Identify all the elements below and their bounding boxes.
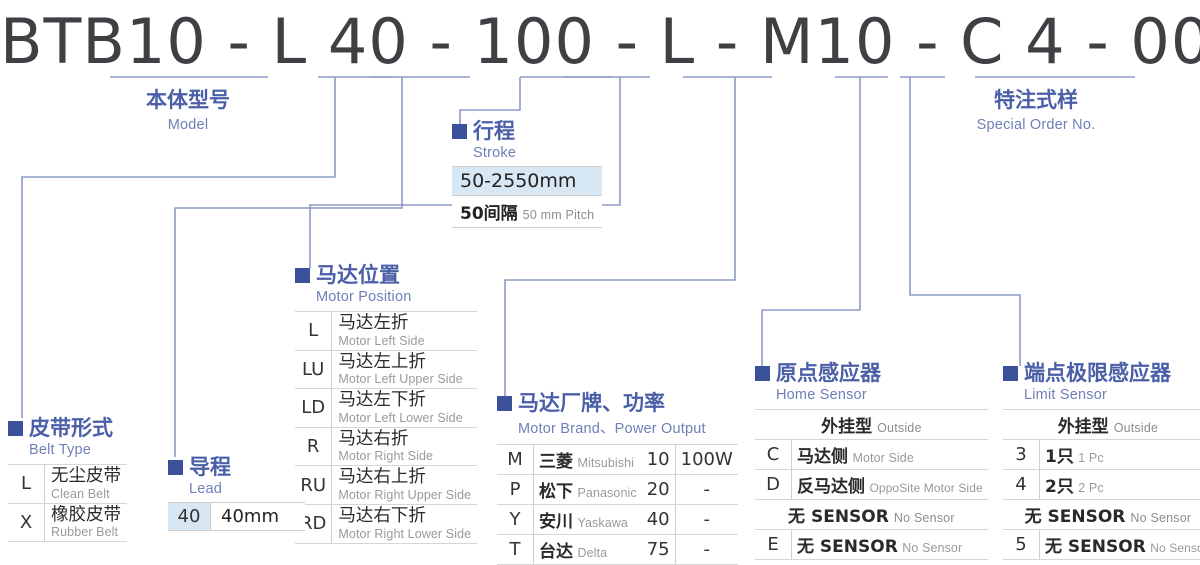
stroke-table: 50-2550mm 50间隔50 mm Pitch xyxy=(452,166,602,228)
table-row[interactable]: 4 2只 2 Pc xyxy=(1003,470,1200,500)
row-value-en: Clean Belt xyxy=(51,487,121,501)
row-value-cn: 无尘皮带 xyxy=(51,467,121,487)
table-row[interactable]: M 三菱 Mitsubishi 10 100W xyxy=(497,445,738,475)
row-key: 40 xyxy=(168,503,211,531)
table-row[interactable]: 50-2550mm xyxy=(452,167,602,196)
row-value: 马达左折 Motor Left Side xyxy=(332,312,477,351)
row-value: 无尘皮带 Clean Belt xyxy=(45,465,128,504)
band-en: Outside xyxy=(1114,421,1158,435)
row-value-cn: 1只 xyxy=(1045,447,1074,467)
row-value-cn: 马达右折 xyxy=(338,430,471,450)
row-value: 马达右下折 Motor Right Lower Side xyxy=(332,504,477,543)
band-en: No Sensor xyxy=(1130,511,1191,525)
row-value-en: Motor Right Lower Side xyxy=(338,527,471,541)
group-motor-position-label-cn: 马达位置 xyxy=(316,265,400,286)
diagram-canvas: BTB10 - L 40 - 100 - L - M10 - C 4 - 000… xyxy=(0,0,1200,551)
row-value-cn: 马达右下折 xyxy=(338,507,471,527)
group-special-order-label-cn: 特注式样 xyxy=(940,84,1132,114)
row-power-value: 100W xyxy=(675,445,738,475)
row-brand-en: Yaskawa xyxy=(577,516,628,530)
row-value: 马达左下折 Motor Left Lower Side xyxy=(332,389,477,428)
bullet-square-icon xyxy=(168,460,183,475)
row-value-cn: 马达左折 xyxy=(338,314,471,334)
section-band-no-sensor: 无 SENSORNo Sensor xyxy=(755,500,988,530)
bullet-square-icon xyxy=(8,421,23,436)
row-value: 无 SENSOR No Sensor xyxy=(792,530,988,560)
table-row[interactable]: Y 安川 Yaskawa 40 - xyxy=(497,505,738,535)
row-value-cn: 无 SENSOR xyxy=(1045,537,1146,557)
group-lead-label-en: Lead xyxy=(189,481,305,497)
group-motor-brand-label-en: Motor Brand、Power Output xyxy=(518,417,738,438)
group-home-sensor-label-en: Home Sensor xyxy=(776,387,988,403)
group-motor-position: 马达位置 Motor Position L 马达左折 Motor Left Si… xyxy=(295,265,477,544)
band-cn: 无 SENSOR xyxy=(1025,507,1126,527)
row-value-cn: 马达左下折 xyxy=(338,391,471,411)
section-band-outside: 外挂型Outside xyxy=(755,410,988,440)
group-model-label-en: Model xyxy=(103,117,273,133)
bullet-square-icon xyxy=(497,396,512,411)
row-value-en: Motor Left Side xyxy=(338,334,471,348)
row-value-cn: 无 SENSOR xyxy=(797,537,898,557)
row-key: 3 xyxy=(1003,440,1040,470)
table-row[interactable]: P 松下 Panasonic 20 - xyxy=(497,475,738,505)
row-value-en: Motor Side xyxy=(852,451,913,465)
stroke-pitch: 50间隔50 mm Pitch xyxy=(452,196,602,228)
row-value-cn: 马达侧 xyxy=(797,447,848,467)
group-stroke: 行程 Stroke 50-2550mm 50间隔50 mm Pitch xyxy=(452,121,602,228)
group-model: 本体型号 Model xyxy=(103,84,273,133)
row-key: LU xyxy=(295,350,332,389)
group-model-label-cn: 本体型号 xyxy=(103,84,273,114)
table-row[interactable]: RU 马达右上折 Motor Right Upper Side xyxy=(295,466,477,505)
group-belt-type-label-cn: 皮带形式 xyxy=(29,418,113,439)
band-cn: 外挂型 xyxy=(1058,417,1109,437)
table-row[interactable]: LU 马达左上折 Motor Left Upper Side xyxy=(295,350,477,389)
table-row[interactable]: 5 无 SENSOR No Sensor xyxy=(1003,530,1200,560)
group-stroke-label-en: Stroke xyxy=(473,145,602,161)
group-motor-brand: 马达厂牌、功率 Motor Brand、Power Output M 三菱 Mi… xyxy=(497,393,738,565)
row-value: 40mm xyxy=(211,503,305,531)
row-brand-cn: 松下 xyxy=(539,482,573,502)
row-value-cn: 马达左上折 xyxy=(338,353,471,373)
group-special-order: 特注式样 Special Order No. xyxy=(940,84,1132,133)
row-key: L xyxy=(295,312,332,351)
row-key: 5 xyxy=(1003,530,1040,560)
table-row[interactable]: T 台达 Delta 75 - xyxy=(497,535,738,565)
row-key: Y xyxy=(497,505,534,535)
row-value-en: 1 Pc xyxy=(1078,451,1103,465)
row-value-cn: 反马达侧 xyxy=(797,477,865,497)
row-value: 反马达侧 OppoSite Motor Side xyxy=(792,470,988,500)
row-value: 马达左上折 Motor Left Upper Side xyxy=(332,350,477,389)
table-row[interactable]: C 马达侧 Motor Side xyxy=(755,440,988,470)
group-limit-sensor: 端点极限感应器 Limit Sensor 外挂型Outside 3 1只 1 P… xyxy=(1003,363,1200,560)
row-key: X xyxy=(8,503,45,542)
row-power-value: - xyxy=(675,535,738,565)
row-brand-en: Mitsubishi xyxy=(577,456,634,470)
group-limit-sensor-label-cn: 端点极限感应器 xyxy=(1024,363,1171,384)
table-row: 无 SENSORNo Sensor xyxy=(755,500,988,530)
row-brand-en: Panasonic xyxy=(577,486,636,500)
row-brand-cn: 三菱 xyxy=(539,452,573,472)
row-power-code: 75 xyxy=(642,535,675,565)
row-brand: 三菱 Mitsubishi xyxy=(534,445,642,475)
row-brand: 台达 Delta xyxy=(534,535,642,565)
group-belt-type: 皮带形式 Belt Type L 无尘皮带 Clean Belt X 橡胶皮带 … xyxy=(8,418,127,542)
row-brand-en: Delta xyxy=(577,546,607,560)
group-home-sensor-label-cn: 原点感应器 xyxy=(776,363,881,384)
band-en: Outside xyxy=(877,421,921,435)
row-value: 马达侧 Motor Side xyxy=(792,440,988,470)
row-value: 1只 1 Pc xyxy=(1040,440,1200,470)
row-value-en: Rubber Belt xyxy=(51,525,121,539)
bullet-square-icon xyxy=(452,124,467,139)
row-brand: 安川 Yaskawa xyxy=(534,505,642,535)
bullet-square-icon xyxy=(295,268,310,283)
row-power-value: - xyxy=(675,475,738,505)
row-key: LD xyxy=(295,389,332,428)
table-row: 外挂型Outside xyxy=(755,410,988,440)
bullet-square-icon xyxy=(1003,366,1018,381)
row-key: 4 xyxy=(1003,470,1040,500)
row-value-cn: 橡胶皮带 xyxy=(51,506,121,526)
row-brand-cn: 台达 xyxy=(539,542,573,562)
group-lead: 导程 Lead 40 40mm xyxy=(168,457,305,531)
table-row[interactable]: R 马达右折 Motor Right Side xyxy=(295,427,477,466)
band-cn: 外挂型 xyxy=(821,417,872,437)
row-value-en: 2 Pc xyxy=(1078,481,1103,495)
section-band-no-sensor: 无 SENSORNo Sensor xyxy=(1003,500,1200,530)
group-belt-type-label-en: Belt Type xyxy=(29,442,127,458)
group-motor-brand-label-cn: 马达厂牌、功率 xyxy=(518,393,665,414)
section-band-outside: 外挂型Outside xyxy=(1003,410,1200,440)
belt-type-table: L 无尘皮带 Clean Belt X 橡胶皮带 Rubber Belt xyxy=(8,464,127,542)
group-stroke-label-cn: 行程 xyxy=(473,121,515,142)
table-row: 外挂型Outside xyxy=(1003,410,1200,440)
row-value-cn: 马达右上折 xyxy=(338,468,471,488)
row-power-code: 10 xyxy=(642,445,675,475)
table-row[interactable]: L 无尘皮带 Clean Belt xyxy=(8,465,127,504)
table-row[interactable]: E 无 SENSOR No Sensor xyxy=(755,530,988,560)
row-key: E xyxy=(755,530,792,560)
row-key: T xyxy=(497,535,534,565)
band-en: No Sensor xyxy=(894,511,955,525)
row-brand: 松下 Panasonic xyxy=(534,475,642,505)
row-value: 马达右折 Motor Right Side xyxy=(332,427,477,466)
lead-table: 40 40mm xyxy=(168,502,305,531)
row-value-en: Motor Left Lower Side xyxy=(338,411,471,425)
table-row[interactable]: LD 马达左下折 Motor Left Lower Side xyxy=(295,389,477,428)
row-key: C xyxy=(755,440,792,470)
limit-sensor-table: 外挂型Outside 3 1只 1 Pc 4 2只 2 Pc 无 SENSO xyxy=(1003,409,1200,560)
band-cn: 无 SENSOR xyxy=(788,507,889,527)
row-key: D xyxy=(755,470,792,500)
bullet-square-icon xyxy=(755,366,770,381)
group-lead-label-cn: 导程 xyxy=(189,457,231,478)
row-key: L xyxy=(8,465,45,504)
row-value-en: Motor Left Upper Side xyxy=(338,372,471,386)
motor-brand-table: M 三菱 Mitsubishi 10 100W P 松下 Panasonic 2… xyxy=(497,444,738,565)
row-value-en: No Sensor xyxy=(1150,541,1200,555)
group-home-sensor: 原点感应器 Home Sensor 外挂型Outside C 马达侧 Motor… xyxy=(755,363,988,560)
table-row[interactable]: 3 1只 1 Pc xyxy=(1003,440,1200,470)
row-value: 2只 2 Pc xyxy=(1040,470,1200,500)
row-value-en: OppoSite Motor Side xyxy=(869,481,982,495)
stroke-range: 50-2550mm xyxy=(452,167,602,196)
row-value: 马达右上折 Motor Right Upper Side xyxy=(332,466,477,505)
row-value: 橡胶皮带 Rubber Belt xyxy=(45,503,128,542)
row-value-en: Motor Right Upper Side xyxy=(338,488,471,502)
row-power-code: 20 xyxy=(642,475,675,505)
stroke-pitch-en: 50 mm Pitch xyxy=(523,208,595,222)
motor-position-table: L 马达左折 Motor Left Side LU 马达左上折 Motor Le… xyxy=(295,311,477,544)
table-row[interactable]: L 马达左折 Motor Left Side xyxy=(295,312,477,351)
row-power-value: - xyxy=(675,505,738,535)
table-row[interactable]: 40 40mm xyxy=(168,503,305,531)
row-value-en: Motor Right Side xyxy=(338,449,471,463)
group-special-order-label-en: Special Order No. xyxy=(940,117,1132,133)
row-key: M xyxy=(497,445,534,475)
row-value-cn: 2只 xyxy=(1045,477,1074,497)
row-key: P xyxy=(497,475,534,505)
table-row[interactable]: D 反马达侧 OppoSite Motor Side xyxy=(755,470,988,500)
table-row[interactable]: X 橡胶皮带 Rubber Belt xyxy=(8,503,127,542)
table-row[interactable]: RD 马达右下折 Motor Right Lower Side xyxy=(295,504,477,543)
table-row: 无 SENSORNo Sensor xyxy=(1003,500,1200,530)
stroke-pitch-cn: 50间隔 xyxy=(460,204,518,224)
row-brand-cn: 安川 xyxy=(539,512,573,532)
row-value-en: No Sensor xyxy=(902,541,962,555)
group-motor-position-label-en: Motor Position xyxy=(316,289,477,305)
group-limit-sensor-label-en: Limit Sensor xyxy=(1024,387,1200,403)
row-power-code: 40 xyxy=(642,505,675,535)
table-row[interactable]: 50间隔50 mm Pitch xyxy=(452,196,602,228)
home-sensor-table: 外挂型Outside C 马达侧 Motor Side D 反马达侧 OppoS… xyxy=(755,409,988,560)
row-value: 无 SENSOR No Sensor xyxy=(1040,530,1200,560)
